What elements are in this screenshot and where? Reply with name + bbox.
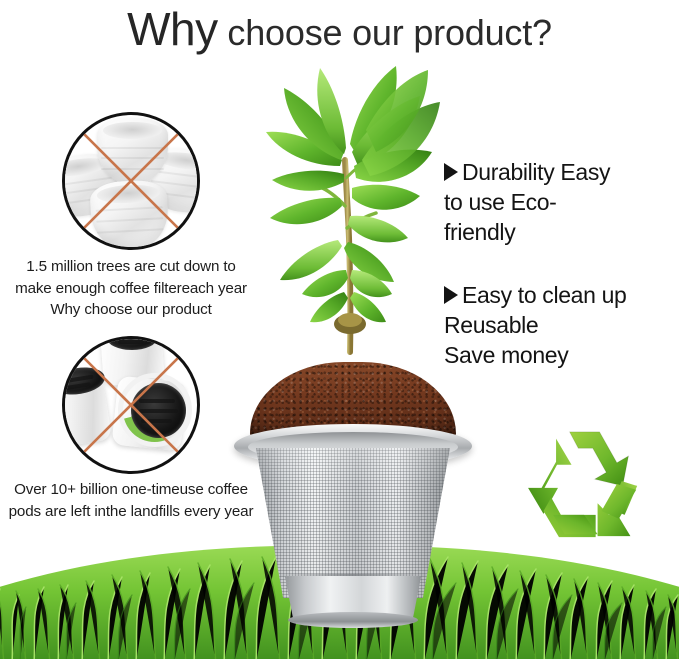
cup-base-bottom [288, 612, 418, 628]
bullet-line: Reusable [444, 311, 679, 341]
infographic-canvas: Why choose our product? [0, 0, 679, 659]
bullet-line: Save money [444, 341, 679, 371]
bullet-line: to use Eco- [444, 188, 679, 218]
bullet-line: friendly [444, 218, 679, 248]
badge-single-use-pods-crossed-out [62, 336, 200, 474]
k-cup-pods-photo [65, 339, 197, 471]
benefit-bullet-easy-clean: Easy to clean up Reusable Save money [444, 281, 679, 371]
recycle-symbol-icon [528, 428, 644, 540]
caption-paper-filters: 1.5 million trees are cut down to make e… [8, 256, 254, 321]
benefit-bullet-durability: Durability Easy to use Eco- friendly [444, 158, 679, 248]
page-title-emphasis: Why [127, 3, 218, 55]
caption-single-use-pods: Over 10+ billion one-timeuse coffee pods… [8, 479, 254, 522]
bullet-line: Easy to clean up [462, 282, 626, 308]
paper-filters-photo [65, 115, 197, 247]
triangle-right-icon [444, 163, 458, 181]
page-title-rest: choose our product? [218, 12, 552, 53]
triangle-right-icon [444, 286, 458, 304]
stainless-steel-filter-cup [234, 362, 472, 614]
page-title: Why choose our product? [0, 2, 679, 56]
badge-paper-filters-crossed-out [62, 112, 200, 250]
bullet-line: Durability Easy [462, 159, 610, 185]
